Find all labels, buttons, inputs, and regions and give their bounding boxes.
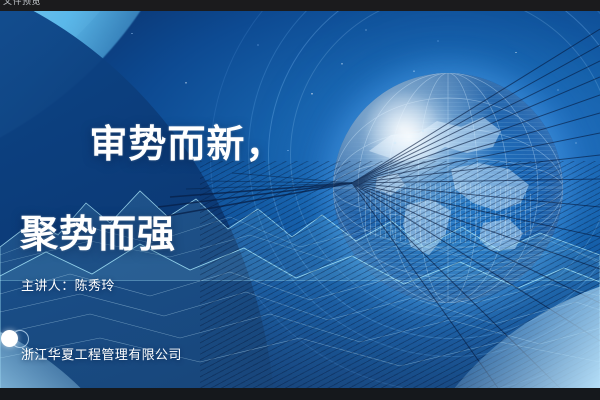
slide-canvas: 审势而新， 聚势而强 主讲人：陈秀玲 浙江华夏工程管理有限公司 时间：2025.…	[0, 11, 600, 388]
viewer-bottombar	[0, 388, 600, 400]
viewer-titlebar: 文件预览	[0, 0, 600, 11]
viewer-title-label: 文件预览	[3, 0, 41, 7]
slide-viewer: 文件预览	[0, 0, 600, 400]
company-line: 浙江华夏工程管理有限公司	[21, 343, 182, 366]
bullet-dot	[1, 330, 18, 347]
presenter-line: 主讲人：陈秀玲	[21, 274, 182, 297]
slide-title-line-1: 审势而新，	[89, 124, 284, 166]
slide-meta: 主讲人：陈秀玲 浙江华夏工程管理有限公司 时间：2025.3.29	[21, 228, 182, 388]
